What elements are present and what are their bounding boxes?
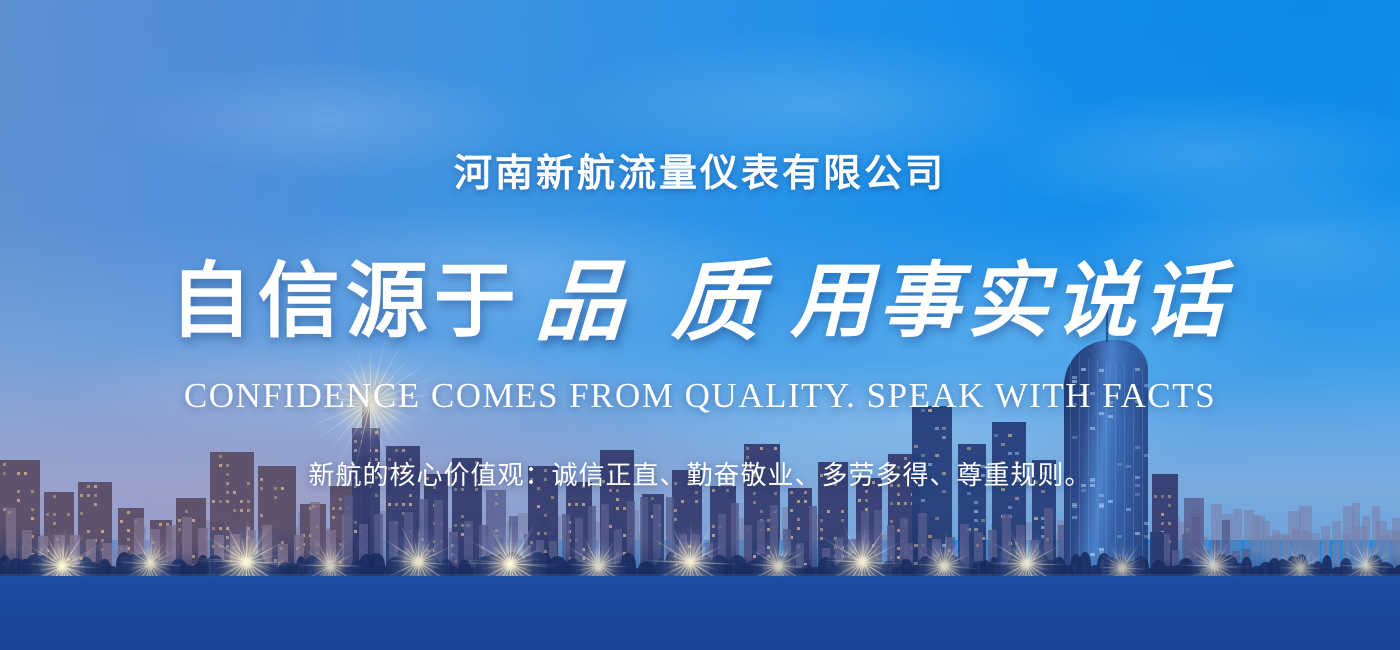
- core-values-line: 新航的核心价值观：诚信正直、勤奋敬业、多劳多得、尊重规则。: [0, 462, 1400, 488]
- banner-content: 河南新航流量仪表有限公司 自信源于品 质用事实说话 CONFIDENCE COM…: [0, 0, 1400, 650]
- headline: 自信源于品 质用事实说话: [0, 258, 1400, 346]
- headline-part-2-quality: 品 质: [533, 258, 774, 346]
- headline-part-1: 自信源于: [170, 256, 522, 347]
- english-tagline: CONFIDENCE COMES FROM QUALITY. SPEAK WIT…: [0, 378, 1400, 413]
- company-name: 河南新航流量仪表有限公司: [0, 155, 1400, 193]
- headline-part-3: 用事实说话: [790, 256, 1230, 347]
- hero-banner: 河南新航流量仪表有限公司 自信源于品 质用事实说话 CONFIDENCE COM…: [0, 0, 1400, 650]
